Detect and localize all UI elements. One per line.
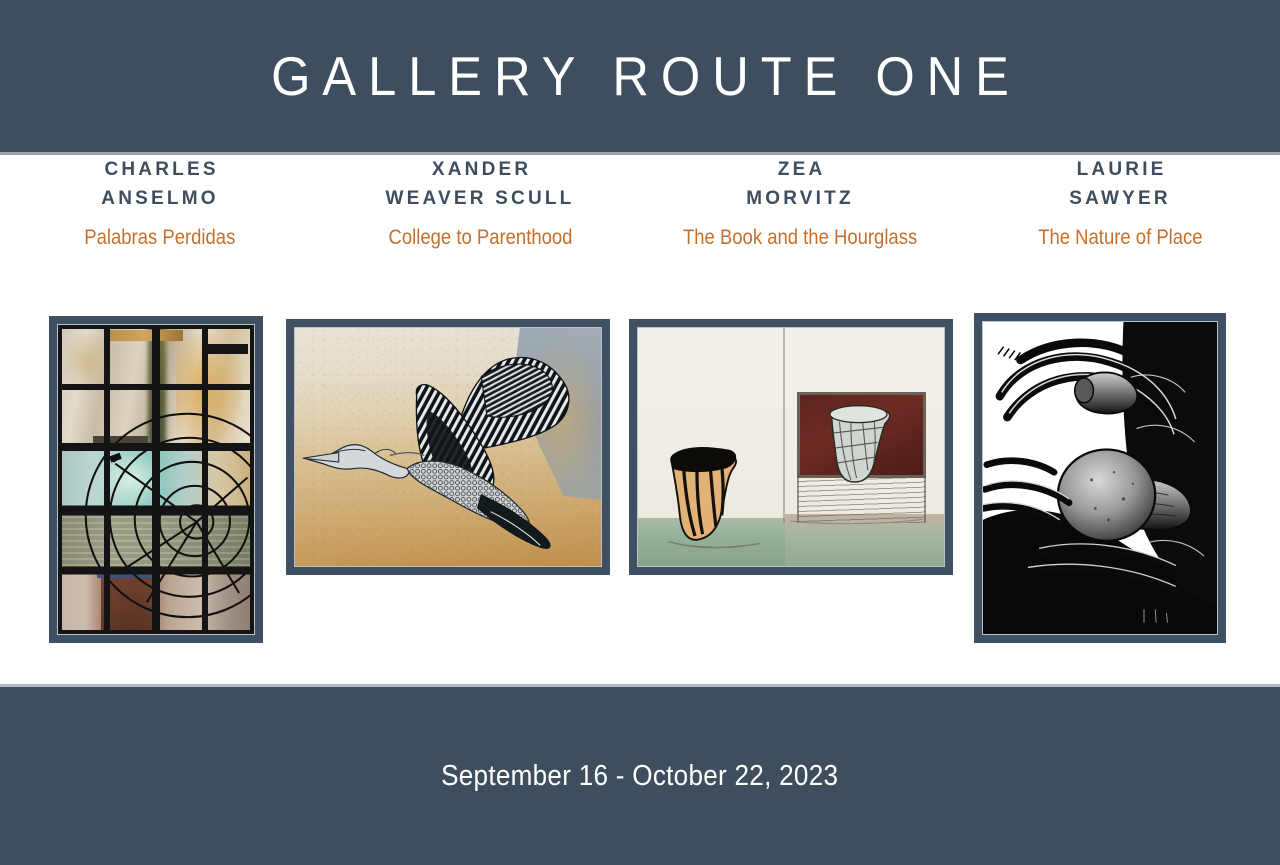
- gallery-title: GALLERY ROUTE ONE: [259, 44, 1021, 108]
- exhibition-poster: GALLERY ROUTE ONE CHARLES ANSELMO Palabr…: [0, 0, 1280, 865]
- artwork-frame-1: [50, 317, 262, 642]
- artwork-mat-3: [637, 327, 945, 567]
- artwork-mat-2: [294, 327, 602, 567]
- engraving-figure: [983, 322, 1217, 634]
- artist-name: XANDER WEAVER SCULL: [386, 155, 575, 213]
- artwork-image-vessels: [638, 328, 944, 566]
- heron-figure: [295, 328, 601, 566]
- footer-band: September 16 - October 22, 2023: [0, 687, 1280, 865]
- artwork-image-window: [58, 325, 254, 634]
- artwork-title: The Book and the Hourglass: [683, 226, 917, 250]
- exhibition-dates: September 16 - October 22, 2023: [441, 760, 838, 793]
- header-band: GALLERY ROUTE ONE: [0, 0, 1280, 152]
- exhibition-entry-3: ZEA MORVITZ The Book and the Hourglass: [640, 155, 960, 250]
- artwork-mat-1: [57, 324, 255, 635]
- exhibition-entry-1: CHARLES ANSELMO Palabras Perdidas: [0, 155, 320, 250]
- artwork-title: College to Parenthood: [388, 226, 572, 250]
- exhibition-entry-2: XANDER WEAVER SCULL College to Parenthoo…: [320, 155, 640, 250]
- artwork-frame-4: [975, 314, 1225, 642]
- artwork-mat-4: [982, 321, 1218, 635]
- vessel-figures: [638, 328, 944, 566]
- artist-name: LAURIE SAWYER: [1069, 155, 1171, 213]
- artwork-title: The Nature of Place: [1038, 226, 1202, 250]
- artwork-title: Palabras Perdidas: [84, 226, 235, 250]
- artwork-image-heron: [295, 328, 601, 566]
- artist-name: ZEA MORVITZ: [746, 155, 854, 213]
- exhibition-entry-4: LAURIE SAWYER The Nature of Place: [960, 155, 1280, 250]
- artwork-frame-3: [630, 320, 952, 574]
- artwork-image-engraving: [983, 322, 1217, 634]
- artist-name: CHARLES ANSELMO: [101, 155, 218, 213]
- artwork-frame-2: [287, 320, 609, 574]
- artists-row: CHARLES ANSELMO Palabras Perdidas XANDER…: [0, 155, 1280, 250]
